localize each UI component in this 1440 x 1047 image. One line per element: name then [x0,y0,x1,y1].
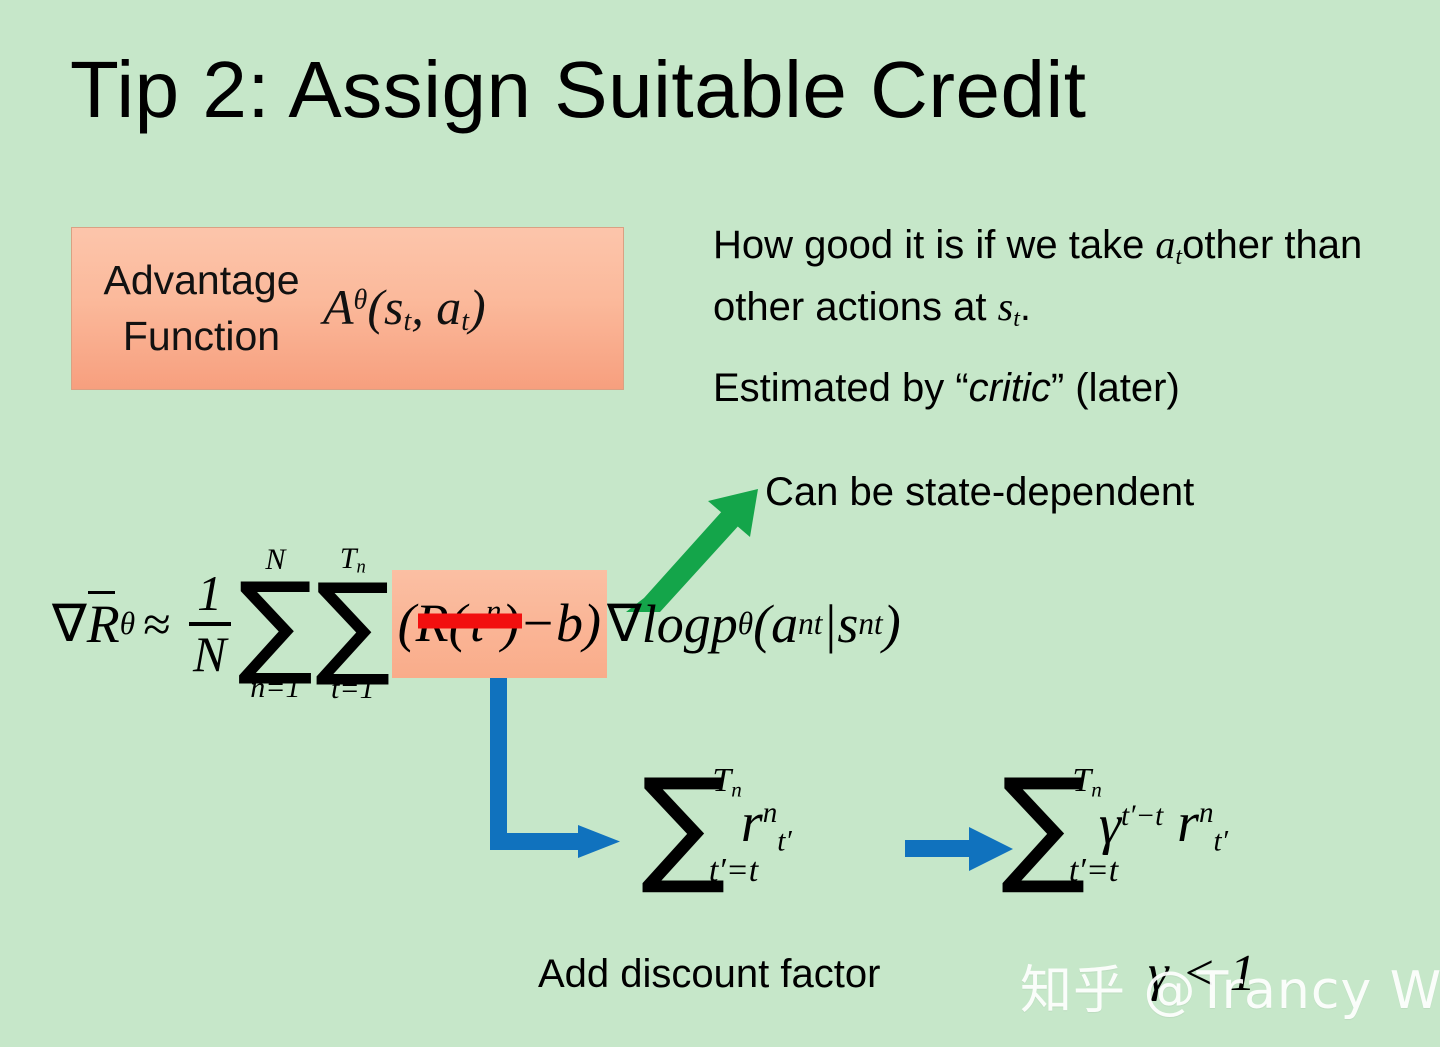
advantage-function-box: Advantage Function Aθ(st, at) [71,227,624,390]
desc-line1-math-a: at [1155,222,1182,267]
eq-tail-s-sup: n [858,606,874,642]
eq-sum-over-n: N ∑ n=1 [238,544,313,703]
reward-sum-lower-t: t [709,852,718,889]
discounted-reward-sum: ∑ Tn t′=t γt′−t rnt′ [1000,762,1228,888]
discount-gamma: γ [1099,794,1121,856]
adv-a: a [436,279,461,335]
adv-a-sub: t [461,307,469,338]
reward-sum-lower: t′=t [709,854,758,888]
eq-tail-logp: logp [642,593,738,655]
desc-line1-part1: How good it is if we take [713,223,1155,267]
eq-R: R [87,594,120,654]
desc-s-symbol: s [998,284,1014,329]
discount-r-sub: t′ [1214,826,1228,858]
advantage-function-label: Advantage Function [72,253,317,364]
eq-tail-nabla: ∇ [607,594,642,654]
state-dependent-annotation: Can be state-dependent [765,470,1194,515]
hl-R: R [416,593,449,653]
policy-gradient-equation: ∇Rθ ≈ 1 N N ∑ n=1 Tn ∑ t=1 (R(τn) − b) ∇… [52,534,901,714]
advantage-description: How good it is if we take atother than o… [713,214,1413,339]
eq-tail-a-sup: n [798,606,814,642]
reward-r-sup: n [763,797,778,829]
reward-sum-sigma-group: ∑ Tn t′=t [641,762,726,888]
eq-frac-denominator: N [189,629,230,680]
discount-sum-lower: t′=t [1069,854,1118,888]
page-title: Tip 2: Assign Suitable Credit [70,48,1087,132]
desc-line2-math-s: st [998,284,1020,329]
reward-to-go-sum: ∑ Tn t′=t rnt′ [640,762,792,888]
critic-pre: Estimated by “ [713,366,969,410]
watermark-text: 知乎 @Trancy Wang [1020,948,1440,1023]
eq-sum-t-sigma: ∑ [315,577,390,673]
adv-close-paren: ) [469,279,486,335]
eq-R-bar: R [87,593,120,655]
eq-tail-a: a [771,593,798,655]
hl-minus: − [520,592,556,654]
eq-approx: ≈ [143,595,170,653]
discount-sum-upper: Tn [1072,764,1101,800]
adv-s: s [384,279,403,335]
discount-sum-sigma-group: ∑ Tn t′=t [1001,762,1086,888]
eq-tail-a-sub: t [814,606,823,642]
eq-nabla: ∇ [52,594,87,654]
discount-sum-upper-sub: n [1091,777,1102,801]
slide-canvas: Tip 2: Assign Suitable Credit Advantage … [0,0,1440,1047]
desc-s-sub: t [1013,306,1020,332]
estimated-by-critic-line: Estimated by “critic” (later) [713,358,1413,418]
reward-sum-upper: Tn [712,764,741,800]
struck-reward-term: R(τn) [416,592,520,654]
hl-open-paren: ( [398,592,416,654]
hl-tau-open: ( [449,593,467,653]
discount-gamma-exponent: t′−t [1121,800,1163,832]
desc-a-symbol: a [1155,222,1175,267]
eq-frac-numerator: 1 [193,568,226,619]
advantage-label-line2: Function [86,309,317,364]
hl-tau: τ [467,593,486,653]
discount-r: r [1177,792,1199,854]
discount-sum-lower-eq: =t [1086,852,1118,889]
hl-tau-sup: n [486,594,502,629]
eq-sum-over-t: Tn ∑ t=1 [315,543,390,705]
desc-line2-part2: . [1020,285,1031,329]
eq-tail-bar: | [823,593,838,655]
hl-b: b [556,592,583,654]
eq-sum-n-lower: n=1 [250,672,300,704]
critic-post: ” (later) [1051,366,1180,410]
eq-sum-t-lower: t=1 [331,673,375,705]
desc-line1-part2: other [1182,223,1273,267]
advantage-label-line1: Advantage [103,257,299,303]
eq-tail-logp-sub: θ [738,606,753,642]
adv-comma: , [411,279,436,335]
discount-sum-lower-prime: ′ [1078,852,1085,889]
hl-close-paren: ) [583,592,601,654]
adv-open-paren: ( [367,279,384,335]
reward-r: r [741,792,763,854]
eq-tail-open: ( [753,593,771,655]
reward-r-sub: t′ [777,826,791,858]
discount-reward-term: rnt′ [1177,791,1228,858]
eq-fraction-one-over-N: 1 N [189,568,231,680]
eq-tail-close: ) [883,593,901,655]
add-discount-factor-caption: Add discount factor [538,952,880,997]
blue-arrow-icon [905,823,1015,875]
eq-sum-n-sigma: ∑ [238,576,313,672]
eq-tail-s-sub: t [874,606,883,642]
discount-gamma-term: γt′−t [1099,793,1163,857]
eq-R-sub-theta: θ [120,606,135,642]
adv-A: A [323,279,354,335]
reward-sum-upper-T: T [712,762,731,799]
discount-sum-lower-t: t [1069,852,1078,889]
reward-sum-lower-prime: ′ [718,852,725,889]
reward-term: rnt′ [741,791,792,858]
hl-tau-close: ) [502,593,520,653]
discount-r-sup: n [1199,797,1214,829]
critic-word: critic [969,366,1051,410]
eq-tail-s: s [837,593,858,655]
discount-sum-upper-T: T [1072,762,1091,799]
reward-baseline-highlight-box: (R(τn) − b) [392,570,607,678]
advantage-function-formula: Aθ(st, at) [317,278,623,338]
adv-theta: θ [354,285,368,316]
